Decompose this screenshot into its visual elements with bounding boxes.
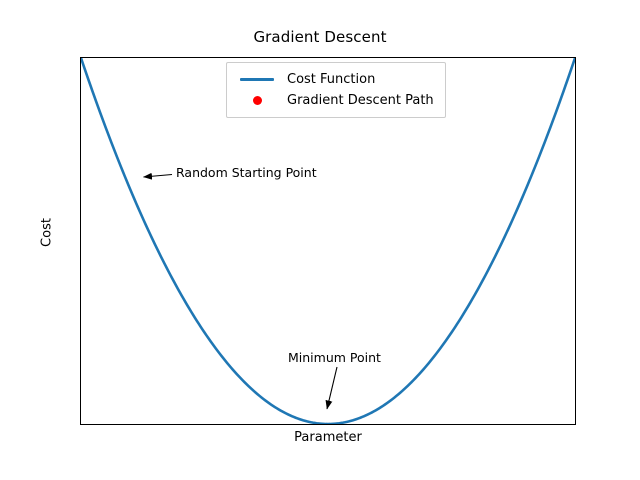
chart-figure: Gradient Descent Random Starting Point M…: [0, 0, 640, 480]
annotation-minimum-point: Minimum Point: [288, 350, 381, 365]
x-axis-label: Parameter: [80, 430, 576, 445]
legend-entry-gradient-descent-path: Gradient Descent Path: [236, 90, 434, 111]
legend-label-cost-function: Cost Function: [278, 72, 375, 87]
chart-legend: Cost Function Gradient Descent Path: [226, 62, 446, 118]
legend-line-swatch-icon: [236, 78, 278, 81]
legend-entry-cost-function: Cost Function: [236, 69, 434, 90]
chart-title: Gradient Descent: [0, 28, 640, 46]
y-axis-label: Cost: [40, 173, 55, 293]
legend-dot-swatch-icon: [236, 96, 278, 105]
annotation-random-starting-point: Random Starting Point: [176, 165, 317, 180]
legend-label-gradient-descent-path: Gradient Descent Path: [278, 93, 434, 108]
